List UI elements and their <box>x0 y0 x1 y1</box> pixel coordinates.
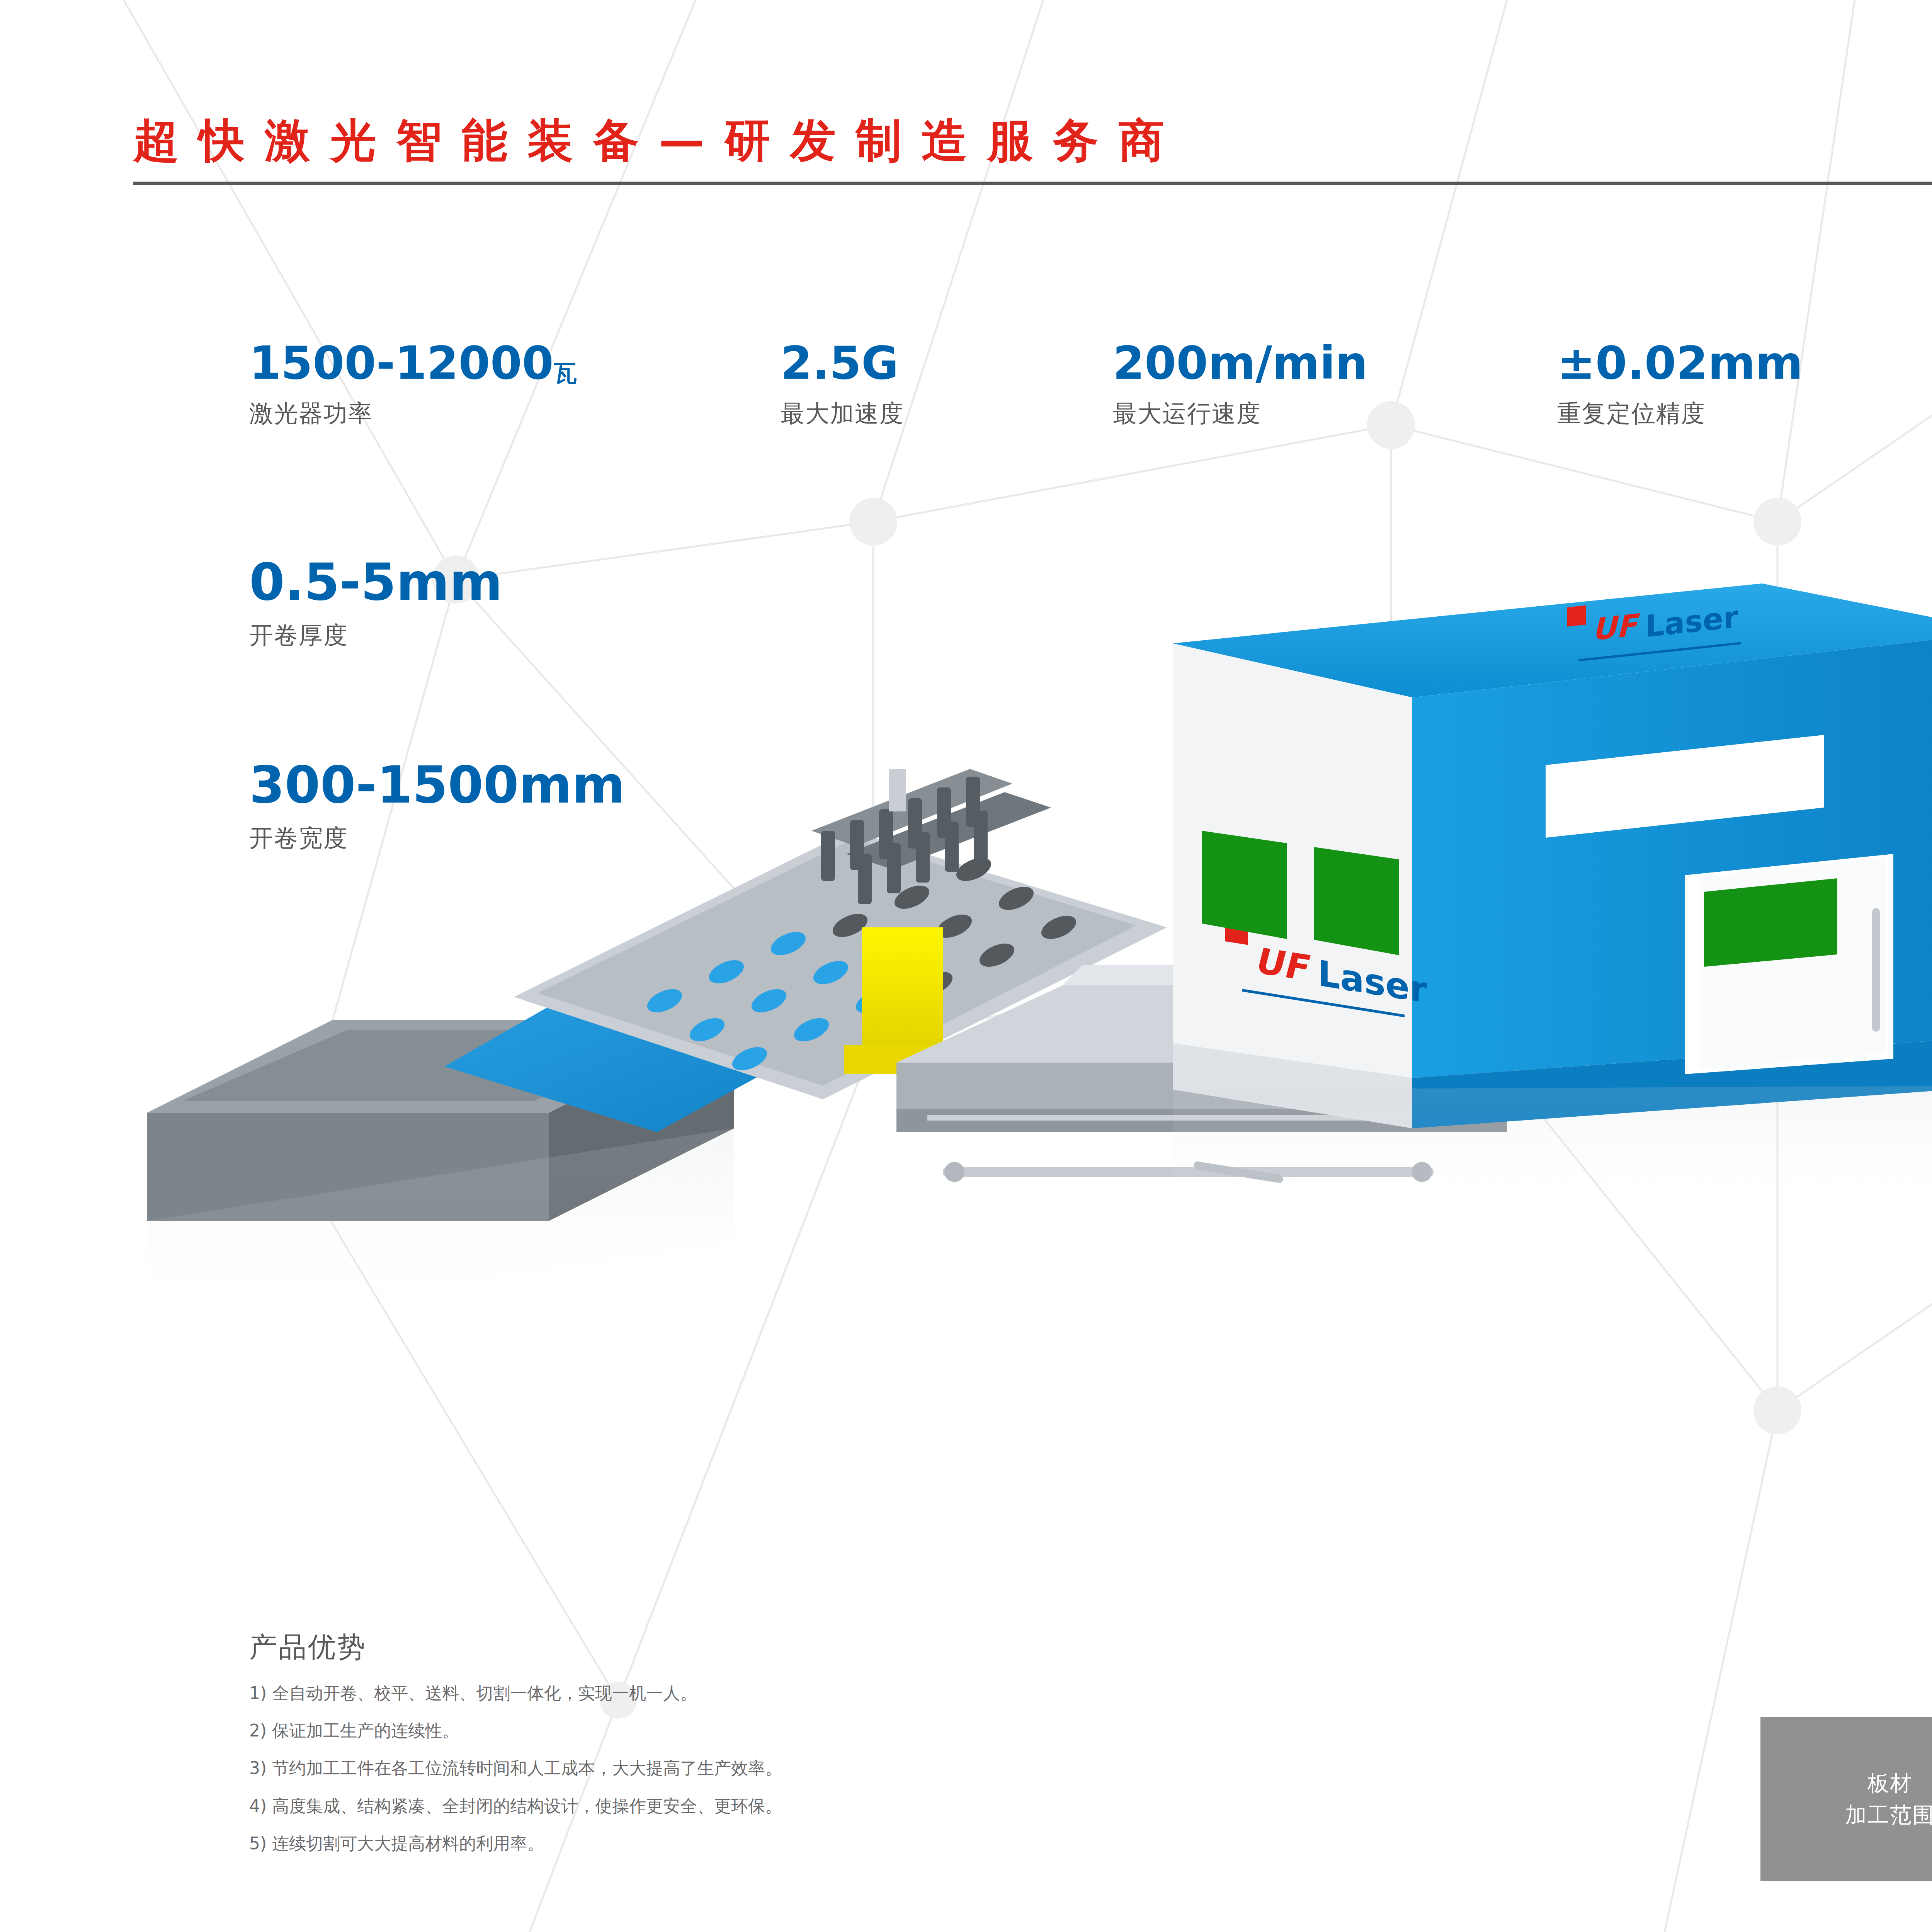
header-slogan: 超快激光智能装备—研发制造服务商 <box>133 110 1184 172</box>
svg-text:UF: UF <box>1592 607 1640 647</box>
spec-unit-cn: 瓦 <box>554 359 577 386</box>
advantage-item: 1) 全自动开卷、校平、送料、切割一体化，实现一机一人。 <box>249 1684 1177 1702</box>
spec-positioning-accuracy: ±0.02mm 重复定位精度 <box>1557 340 1803 430</box>
row-header-line1: 板材 <box>1867 1770 1912 1796</box>
row-header-line2: 加工范围 <box>1845 1802 1932 1827</box>
spec-value: 0.5-5mm <box>249 556 503 607</box>
spec-laser-power: 1500-12000瓦 激光器功率 <box>249 340 577 430</box>
spec-max-acceleration: 2.5G 最大加速度 <box>781 340 904 430</box>
machine-illustration: UF Laser UF Laser <box>0 560 1932 1526</box>
spec-label: 开卷厚度 <box>249 619 503 651</box>
advantage-item: 5) 连续切割可大大提高材料的利用率。 <box>249 1835 1177 1852</box>
spec-value: 200m/min <box>1113 340 1368 386</box>
spec-label: 最大运行速度 <box>1113 397 1368 430</box>
spec-uncoil-width: 300-1500mm 开卷宽度 <box>249 759 625 854</box>
advantages-title: 产品优势 <box>249 1629 1177 1666</box>
spec-value: 300-1500mm <box>249 759 625 810</box>
table-row-header: 板材 加工范围 <box>1760 1717 1932 1881</box>
spec-uncoil-thickness: 0.5-5mm 开卷厚度 <box>249 556 503 651</box>
spec-label: 重复定位精度 <box>1557 397 1803 430</box>
product-advantages: 产品优势 1) 全自动开卷、校平、送料、切割一体化，实现一机一人。 2) 保证加… <box>249 1629 1177 1872</box>
processing-range-table: 板材 加工范围 2米×1.2米 3米×1.5米 4米×2米 <box>1760 1717 1932 1881</box>
spec-value: 1500-12000瓦 <box>249 340 577 386</box>
spec-label: 激光器功率 <box>249 397 577 430</box>
spec-label: 最大加速度 <box>781 397 904 430</box>
advantage-item: 4) 高度集成、结构紧凑、全封闭的结构设计，使操作更安全、更环保。 <box>249 1797 1177 1815</box>
page-header: 超快激光智能装备—研发制造服务商 UF Laser 超快激光·未来之光 <box>0 0 1932 182</box>
advantage-item: 2) 保证加工生产的连续性。 <box>249 1722 1177 1740</box>
advantage-item: 3) 节约加工工件在各工位流转时间和人工成本，大大提高了生产效率。 <box>249 1759 1177 1777</box>
spec-value: ±0.02mm <box>1557 340 1803 386</box>
spec-value: 2.5G <box>781 340 904 386</box>
header-divider <box>133 182 1932 185</box>
spec-max-speed: 200m/min 最大运行速度 <box>1113 340 1368 430</box>
spec-label: 开卷宽度 <box>249 822 625 854</box>
